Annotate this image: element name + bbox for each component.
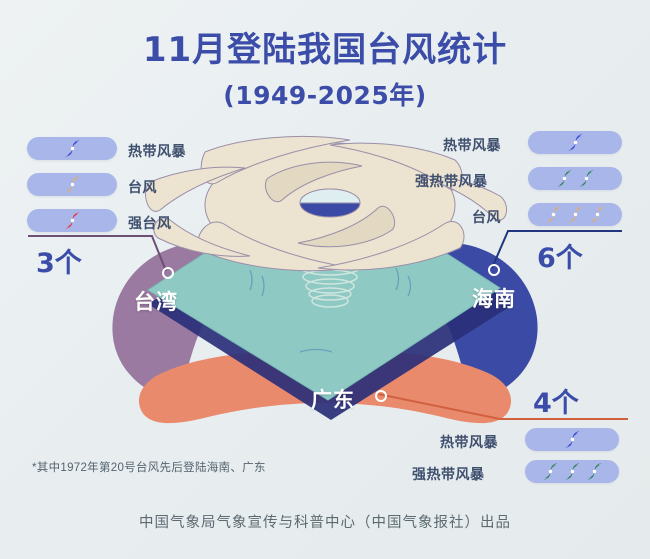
cyclone-icon [63, 139, 82, 158]
cyclone-icon [566, 205, 585, 224]
cyclone-icon [566, 133, 585, 152]
hainan-marker-dot [488, 264, 500, 276]
hainan-label: 海南 [472, 283, 516, 313]
cyclone-icon [541, 462, 560, 481]
legend-pill-taiwan-1[interactable] [27, 173, 117, 196]
cyclone-icon [544, 205, 563, 224]
legend-pill-taiwan-2[interactable] [27, 209, 117, 232]
legend-pill-guangdong-0[interactable] [525, 428, 619, 451]
guangdong-connector [378, 394, 628, 419]
credit-line: 中国气象局气象宣传与科普中心（中国气象报社）出品 [0, 511, 650, 532]
cyclone-icon [63, 211, 82, 230]
page-subtitle: (1949-2025年) [0, 76, 650, 112]
taiwan-label: 台湾 [134, 286, 178, 316]
hainan-arc [395, 241, 538, 395]
cyclone-icon [588, 205, 607, 224]
cyclone-icon [563, 430, 582, 449]
legend-label-taiwan-1: 台风 [128, 177, 157, 197]
sea-plane [148, 175, 500, 400]
legend-pill-guangdong-1[interactable] [525, 460, 619, 483]
legend-label-hainan-0: 热带风暴 [443, 135, 501, 155]
hainan-count: 6个 [537, 236, 583, 275]
legend-pill-hainan-1[interactable] [528, 167, 622, 190]
legend-label-taiwan-2: 强台风 [128, 213, 172, 233]
legend-pill-hainan-0[interactable] [528, 131, 622, 154]
cyclone-icon [585, 462, 604, 481]
cyclone-icon [577, 169, 596, 188]
guangdong-count: 4个 [533, 381, 579, 420]
legend-label-guangdong-1: 强热带风暴 [412, 464, 485, 484]
guangdong-label: 广东 [311, 384, 355, 414]
water-ripples [250, 268, 411, 352]
guangdong-marker-dot [375, 390, 387, 402]
legend-pill-hainan-2[interactable] [528, 203, 622, 226]
cyclone-icon [563, 462, 582, 481]
taiwan-count: 3个 [36, 241, 82, 280]
legend-pill-taiwan-0[interactable] [27, 137, 117, 160]
footnote: *其中1972年第20号台风先后登陆海南、广东 [32, 459, 266, 475]
legend-label-taiwan-0: 热带风暴 [128, 141, 186, 161]
cyclone-icon [555, 169, 574, 188]
page-title: 11月登陆我国台风统计 [0, 22, 650, 71]
vortex-column [295, 222, 365, 307]
legend-label-hainan-1: 强热带风暴 [415, 171, 488, 191]
typhoon-spiral [145, 136, 506, 270]
legend-label-hainan-2: 台风 [472, 207, 501, 227]
cyclone-icon [63, 175, 82, 194]
infographic-canvas: 11月登陆我国台风统计 (1949-2025年) [0, 0, 650, 559]
taiwan-marker-dot [162, 267, 174, 279]
taiwan-arc [112, 241, 255, 395]
legend-label-guangdong-0: 热带风暴 [440, 432, 498, 452]
